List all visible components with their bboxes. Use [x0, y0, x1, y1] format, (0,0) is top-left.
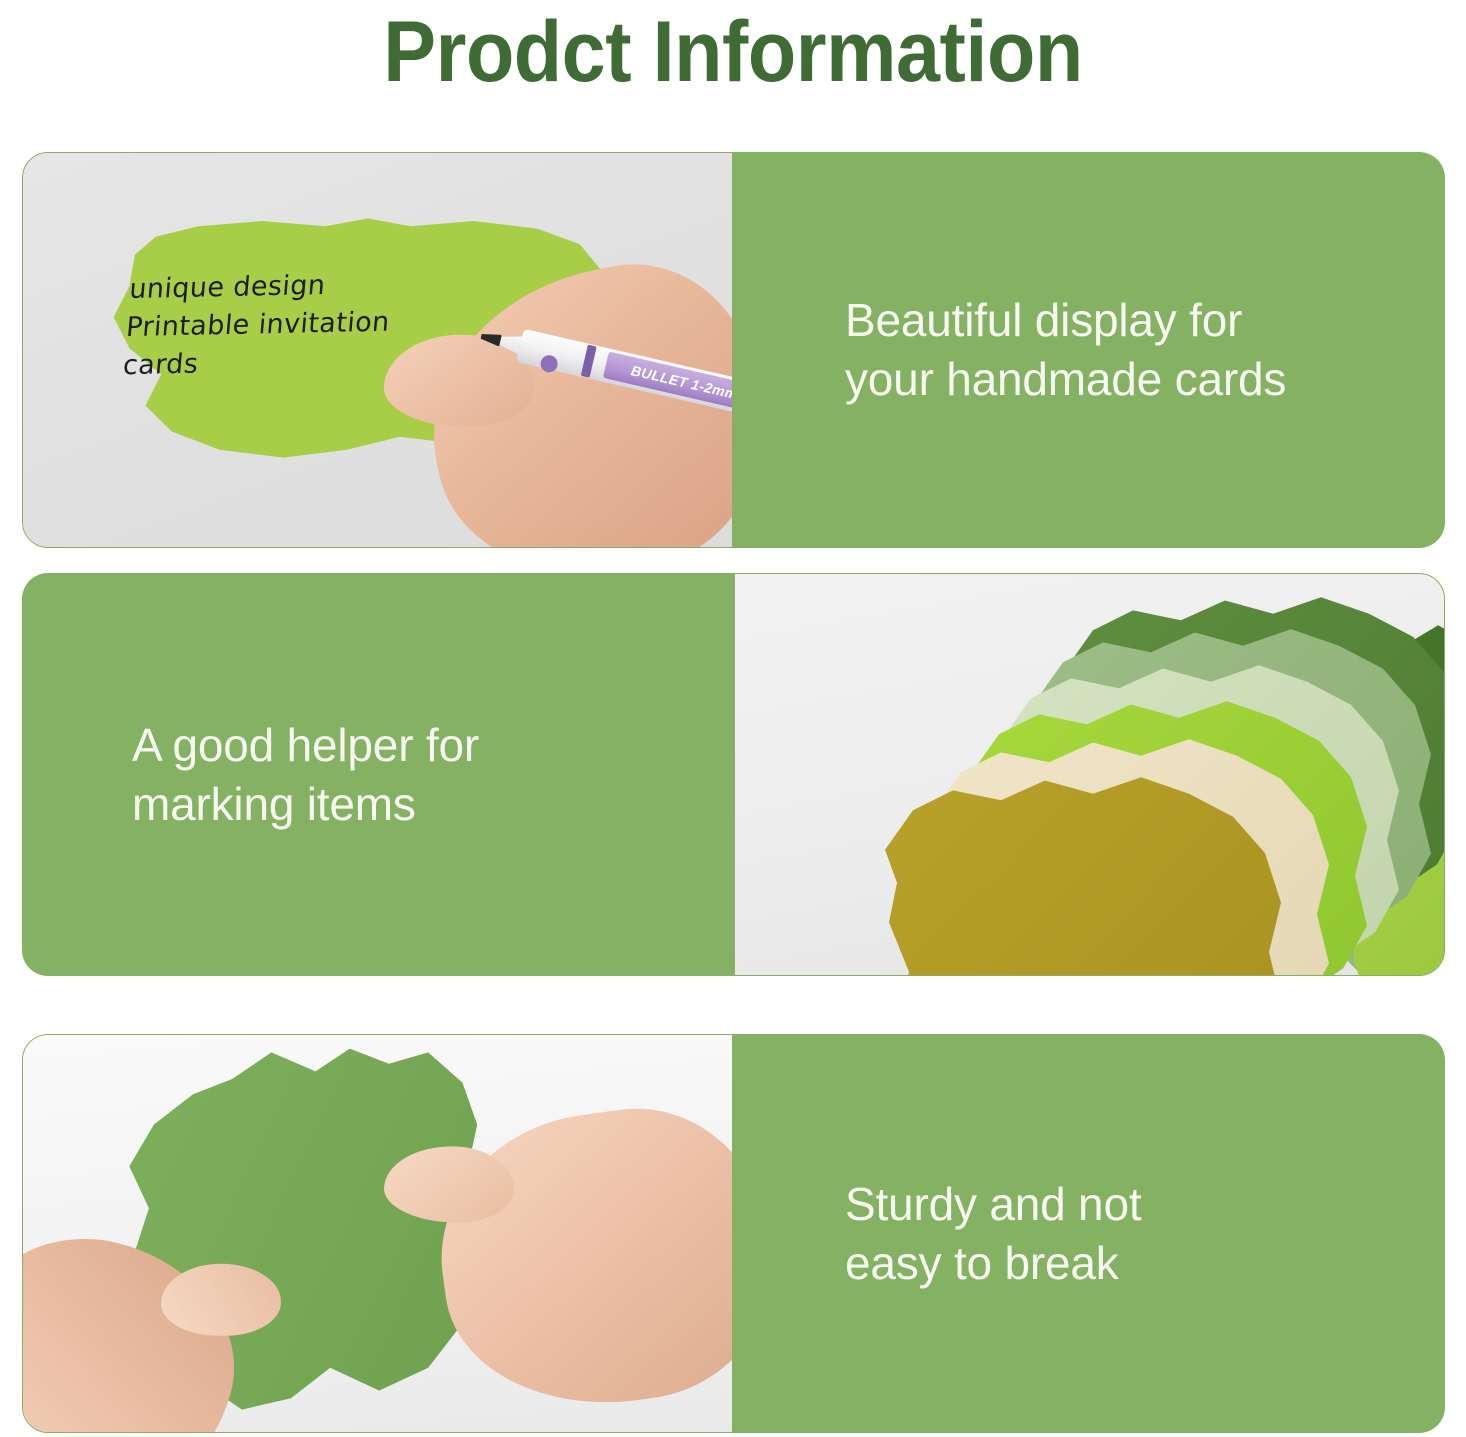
- marker-tip: [480, 330, 502, 346]
- caption-3-line-1: Sturdy and not: [845, 1175, 1141, 1234]
- flexing-card-photo: [22, 1034, 733, 1433]
- feature-row-1: unique design Printable invitation cards…: [22, 152, 1445, 548]
- caption-2-line-1: A good helper for: [132, 716, 479, 775]
- caption-1-line-1: Beautiful display for: [845, 291, 1286, 350]
- caption-panel-2: A good helper for marking items: [22, 573, 734, 976]
- caption-text-3: Sturdy and not easy to break: [733, 1175, 1181, 1293]
- caption-panel-1: Beautiful display for your handmade card…: [733, 152, 1445, 548]
- caption-text-2: A good helper for marking items: [22, 716, 519, 834]
- feature-row-3: Sturdy and not easy to break: [22, 1034, 1445, 1433]
- writing-on-card-photo: unique design Printable invitation cards…: [22, 152, 733, 548]
- caption-1-line-2: your handmade cards: [845, 350, 1286, 409]
- page-title: Prodct Information: [59, 2, 1408, 102]
- caption-2-line-2: marking items: [132, 775, 479, 834]
- caption-text-1: Beautiful display for your handmade card…: [733, 291, 1326, 409]
- caption-panel-3: Sturdy and not easy to break: [733, 1034, 1445, 1433]
- stacked-cards-photo: [734, 573, 1445, 976]
- feature-row-2: A good helper for marking items: [22, 573, 1445, 976]
- product-information-page: Prodct Information unique design Printab…: [0, 0, 1466, 1437]
- caption-3-line-2: easy to break: [845, 1234, 1141, 1293]
